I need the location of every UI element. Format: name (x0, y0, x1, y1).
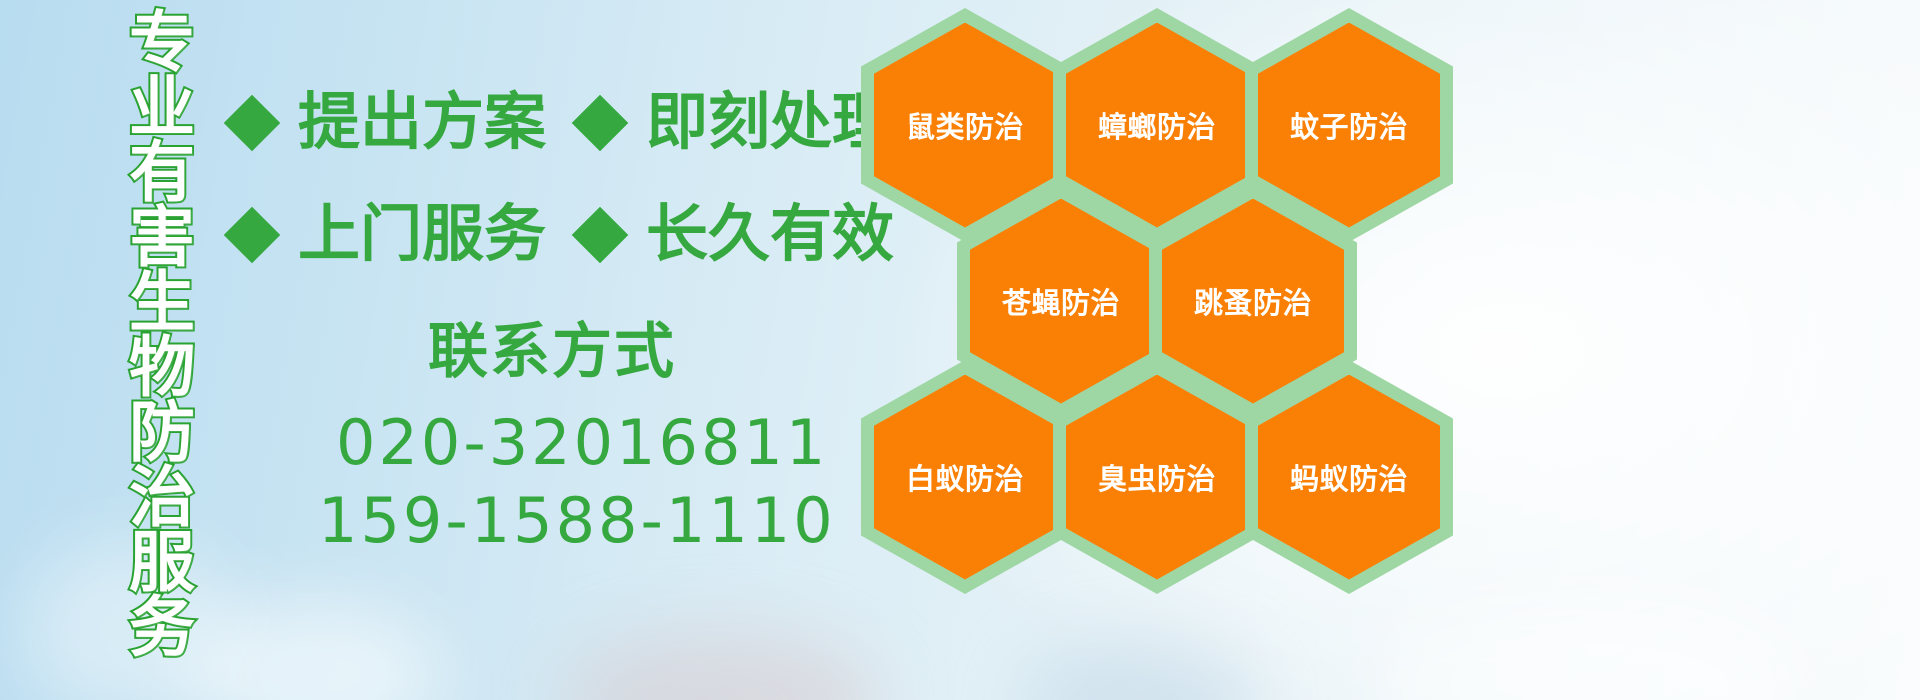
diamond-icon (224, 95, 281, 152)
contact-heading: 联系方式 (428, 322, 676, 382)
diamond-icon (224, 207, 281, 264)
service-label: 蚂蚁防治 (1290, 456, 1408, 498)
diamond-icon (572, 95, 629, 152)
service-label: 白蚁防治 (906, 456, 1024, 498)
vertical-headline-char: 治 (129, 465, 195, 530)
hexagon-inner: 跳蚤防治 (1162, 199, 1344, 404)
feature-item-label: 提出方案 (298, 92, 546, 154)
service-label: 臭虫防治 (1098, 456, 1216, 498)
hexagon-inner: 苍蝇防治 (970, 199, 1152, 404)
service-hexagon-grid: 鼠类防治 蟑螂防治 蚊子防治 苍蝇防治 跳蚤防治 白蚁防治 (855, 0, 1495, 700)
service-label: 蚊子防治 (1290, 104, 1408, 146)
vertical-headline-char: 有 (129, 140, 195, 205)
hexagon-inner: 臭虫防治 (1066, 375, 1248, 580)
phone-number-mobile[interactable]: 159-1588-1110 (318, 490, 836, 552)
service-label: 蟑螂防治 (1098, 104, 1216, 146)
hexagon-inner: 白蚁防治 (874, 375, 1056, 580)
hexagon-inner: 蚊子防治 (1258, 23, 1440, 228)
vertical-headline-char: 专 (129, 10, 195, 75)
feature-row-1: 提出方案 即刻处理 (232, 92, 894, 154)
feature-item-label: 上门服务 (298, 204, 546, 266)
diamond-icon (572, 207, 629, 264)
hexagon-inner: 蚂蚁防治 (1258, 375, 1440, 580)
hexagon-inner: 鼠类防治 (874, 23, 1056, 228)
vertical-headline: 专 业 有 害 生 物 防 治 服 务 (108, 10, 216, 670)
vertical-headline-char: 物 (129, 335, 195, 400)
vertical-headline-char: 害 (129, 205, 195, 270)
vertical-headline-char: 防 (129, 400, 195, 465)
vertical-headline-char: 服 (129, 530, 195, 595)
phone-number-landline[interactable]: 020-32016811 (336, 412, 828, 474)
service-label: 鼠类防治 (906, 104, 1024, 146)
service-label: 跳蚤防治 (1194, 280, 1312, 322)
vertical-headline-char: 业 (129, 75, 195, 140)
background-blur-blob (560, 630, 880, 700)
background-blur-blob (180, 600, 440, 700)
hexagon-inner: 蟑螂防治 (1066, 23, 1248, 228)
vertical-headline-char: 生 (129, 270, 195, 335)
vertical-headline-char: 务 (129, 595, 195, 660)
pest-control-banner: 专 业 有 害 生 物 防 治 服 务 提出方案 即刻处理 上门服务 长久有效 … (0, 0, 1920, 700)
feature-row-2: 上门服务 长久有效 (232, 204, 894, 266)
service-label: 苍蝇防治 (1002, 280, 1120, 322)
